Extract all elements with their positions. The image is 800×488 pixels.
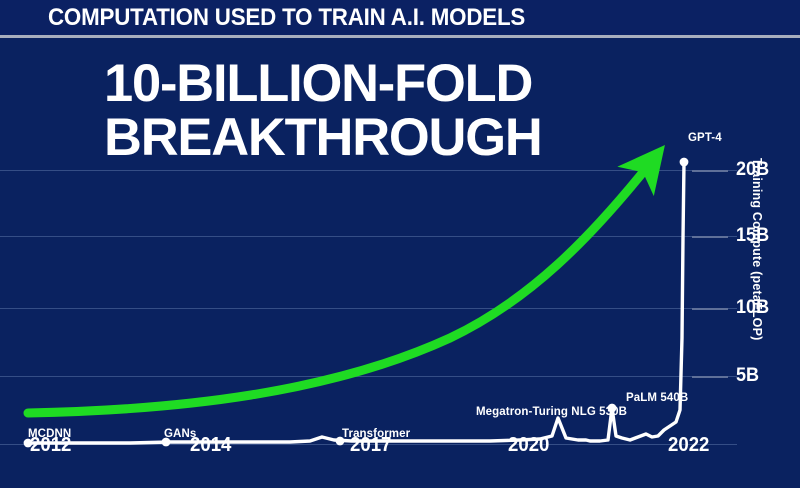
data-label-megatron-turing-nlg-530b: Megatron-Turing NLG 530B xyxy=(476,406,627,418)
headline-text: 10-BILLION-FOLD BREAKTHROUGH xyxy=(104,57,542,165)
training-compute-line xyxy=(30,162,684,443)
data-label-palm-540b: PaLM 540B xyxy=(626,392,688,404)
page-title: COMPUTATION USED TO TRAIN A.I. MODELS xyxy=(48,5,525,31)
data-label-gans: GANs xyxy=(164,428,196,440)
data-label-transformer: Transformer xyxy=(342,428,410,440)
infographic-root: COMPUTATION USED TO TRAIN A.I. MODELS MC… xyxy=(0,0,800,488)
marker-gpt-4 xyxy=(680,158,689,167)
data-point-markers xyxy=(24,158,689,448)
data-label-gpt-4: GPT-4 xyxy=(688,132,722,144)
data-label-mcdnn: MCDNN xyxy=(28,428,71,440)
